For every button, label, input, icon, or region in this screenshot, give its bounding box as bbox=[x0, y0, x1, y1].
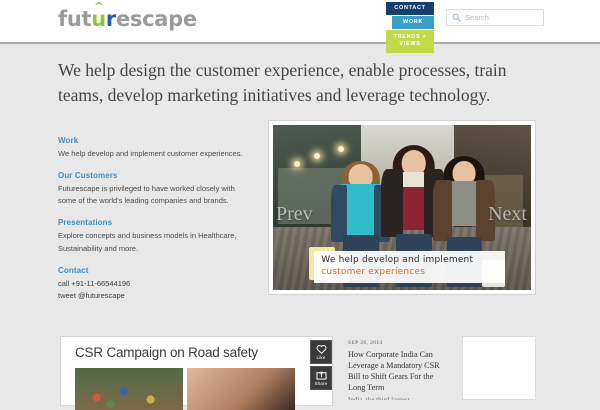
news-column: SEP 26, 2013 How Corporate India Can Lev… bbox=[348, 340, 452, 400]
hero-caption: We help develop and implement customer e… bbox=[314, 251, 505, 283]
photo-lamp bbox=[338, 146, 344, 152]
photo-lamp bbox=[294, 161, 300, 167]
hero-stage: Prev Next We help develop and implement … bbox=[273, 125, 531, 290]
news-headline[interactable]: How Corporate India Can Leverage a Manda… bbox=[348, 349, 452, 393]
csr-card-inner: CSR Campaign on Road safety Like Share bbox=[66, 342, 327, 400]
csr-thumbnails bbox=[75, 368, 295, 410]
share-icon bbox=[316, 370, 327, 380]
section-presentations: Presentations Explore concepts and busin… bbox=[58, 218, 253, 254]
section-body: We help develop and implement customer e… bbox=[58, 148, 253, 160]
site-header: fut^urescape CONTACT WORK TRENDS + VIEWS bbox=[0, 0, 600, 44]
csr-thumbnail-face bbox=[187, 368, 295, 410]
section-body: Futurescape is privileged to have worked… bbox=[58, 183, 253, 207]
hero-slider[interactable]: Prev Next We help develop and implement … bbox=[268, 120, 536, 295]
csr-thumbnail-crowd bbox=[75, 368, 183, 410]
section-title[interactable]: Work bbox=[58, 136, 253, 145]
right-rail-panel bbox=[462, 336, 536, 400]
intro-columns: Work We help develop and implement custo… bbox=[58, 136, 253, 313]
share-button[interactable]: Share bbox=[310, 366, 332, 390]
hero-caption-line-1: We help develop and implement bbox=[321, 255, 498, 267]
logo-accent-r: r bbox=[106, 7, 116, 31]
nav-trends-line-1: TRENDS + bbox=[386, 34, 434, 41]
circumflex-icon: ^ bbox=[94, 1, 103, 12]
main-nav: CONTACT WORK TRENDS + VIEWS bbox=[386, 2, 434, 53]
nav-item-work[interactable]: WORK bbox=[392, 16, 434, 29]
csr-card-title: CSR Campaign on Road safety bbox=[66, 342, 327, 360]
news-excerpt: India, the third largest bbox=[348, 396, 452, 400]
nav-item-trends-views[interactable]: TRENDS + VIEWS bbox=[386, 30, 434, 53]
like-button[interactable]: Like bbox=[310, 340, 332, 364]
search-icon bbox=[452, 13, 461, 22]
social-actions: Like Share bbox=[310, 340, 332, 392]
section-title[interactable]: Presentations bbox=[58, 218, 253, 227]
slider-prev-button[interactable]: Prev bbox=[276, 203, 313, 226]
hero-caption-line-2: customer experiences bbox=[321, 267, 498, 279]
contact-phone[interactable]: call +91-11-66544196 bbox=[58, 278, 253, 290]
csr-campaign-card[interactable]: CSR Campaign on Road safety Like Share bbox=[60, 336, 333, 406]
section-title[interactable]: Contact bbox=[58, 266, 253, 275]
section-body: Explore concepts and business models in … bbox=[58, 230, 253, 254]
section-our-customers: Our Customers Futurescape is privileged … bbox=[58, 171, 253, 207]
site-logo[interactable]: fut^urescape bbox=[58, 9, 197, 30]
logo-part-2: escape bbox=[116, 7, 197, 31]
nav-item-contact[interactable]: CONTACT bbox=[386, 2, 434, 15]
logo-part-1: fut bbox=[58, 7, 91, 31]
slider-next-button[interactable]: Next bbox=[488, 203, 527, 226]
news-date: SEP 26, 2013 bbox=[348, 340, 452, 346]
contact-twitter[interactable]: tweet @futurescape bbox=[58, 290, 253, 302]
section-contact: Contact call +91-11-66544196 tweet @futu… bbox=[58, 266, 253, 302]
search-input[interactable] bbox=[465, 13, 543, 22]
section-work: Work We help develop and implement custo… bbox=[58, 136, 253, 160]
section-title[interactable]: Our Customers bbox=[58, 171, 253, 180]
page-headline: We help design the customer experience, … bbox=[58, 58, 508, 109]
like-button-label: Like bbox=[316, 355, 325, 360]
share-button-label: Share bbox=[314, 381, 327, 386]
heart-icon bbox=[316, 344, 327, 354]
nav-trends-line-2: VIEWS bbox=[386, 41, 434, 48]
logo-accent-u: ^u bbox=[91, 7, 106, 31]
search-box[interactable] bbox=[446, 9, 544, 26]
